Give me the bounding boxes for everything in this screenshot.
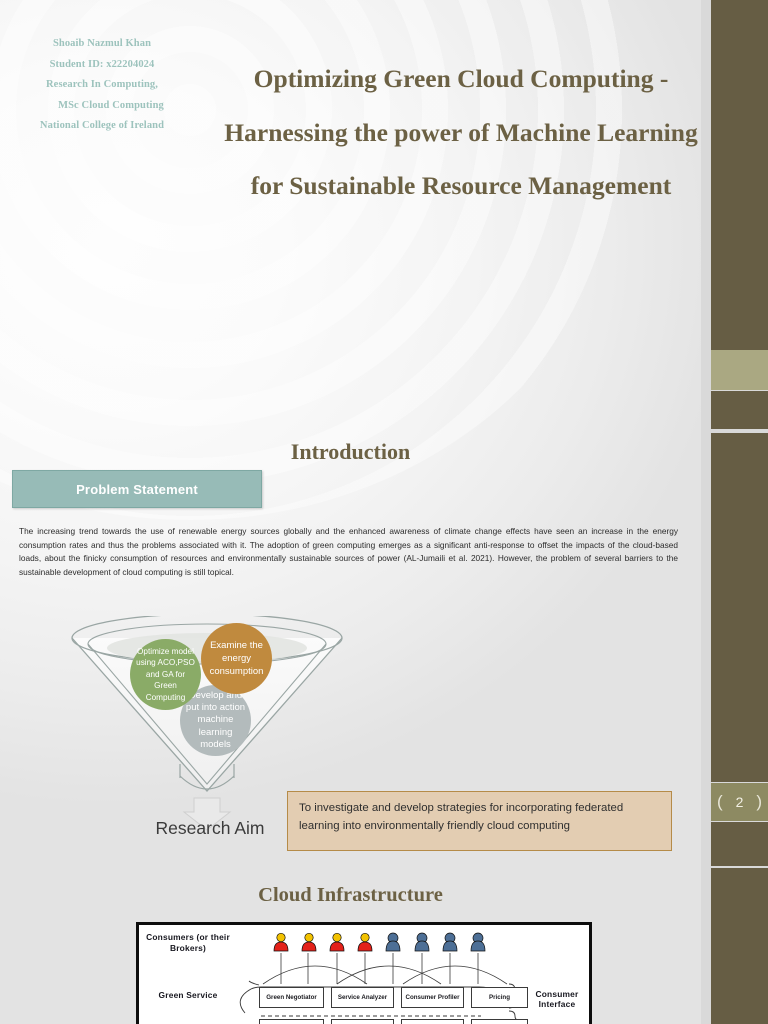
page-title: Optimizing Green Cloud Computing - Harne…: [222, 52, 700, 213]
slide-number-bracket-right: ): [756, 792, 762, 812]
slide-number-indicator: ( 2 ): [711, 783, 768, 821]
introduction-paragraph: The increasing trend towards the use of …: [19, 525, 678, 579]
cloud-diagram-box-row2-d: [471, 1019, 528, 1024]
author-block: Shoaib Nazmul Khan Student ID: x22204024…: [12, 34, 192, 137]
cloud-diagram-connectors: [141, 927, 592, 1024]
problem-statement-label: Problem Statement: [76, 482, 198, 497]
cloud-diagram-box-green-negotiator: Green Negotiator: [259, 987, 324, 1008]
problem-statement-banner: Problem Statement: [12, 470, 262, 508]
cloud-diagram-box-row2-b: [331, 1019, 394, 1024]
rail-strip-highlight[interactable]: [711, 350, 768, 390]
author-programme: Research In Computing,: [12, 75, 192, 96]
funnel-circle-orange-label: Examine the energy consumption: [205, 639, 268, 678]
funnel-circle-green: Optimize model using ACO,PSO and GA for …: [130, 639, 201, 710]
author-course: MSc Cloud Computing: [12, 96, 192, 117]
rail-strip-4[interactable]: [711, 433, 768, 782]
section-heading-cloud-infrastructure: Cloud Infrastructure: [0, 884, 701, 907]
cloud-diagram-box-service-analyzer: Service Analyzer: [331, 987, 394, 1008]
rail-strip-3[interactable]: [711, 391, 768, 429]
research-aim-callout-text: To investigate and develop strategies fo…: [299, 802, 623, 832]
rail-strip-6[interactable]: [711, 822, 768, 866]
research-aim-callout: To investigate and develop strategies fo…: [287, 791, 672, 851]
cloud-diagram-box-row2-c: [401, 1019, 464, 1024]
rail-strip-7[interactable]: [711, 868, 768, 1024]
slide-page: Shoaib Nazmul Khan Student ID: x22204024…: [0, 0, 768, 1024]
cloud-diagram-canvas: Consumers (or their Brokers) Green Servi…: [141, 927, 587, 1024]
rail-strip-1[interactable]: [711, 0, 768, 350]
slide-number-value: 2: [736, 794, 744, 810]
author-student-id: Student ID: x22204024: [12, 55, 192, 76]
cloud-diagram-box-row2-a: [259, 1019, 324, 1024]
author-institution: National College of Ireland: [12, 116, 192, 137]
funnel-circle-orange: Examine the energy consumption: [201, 623, 272, 694]
right-rail[interactable]: ( 2 ): [711, 0, 768, 1024]
author-name: Shoaib Nazmul Khan: [12, 34, 192, 55]
slide-number-bracket-left: (: [717, 792, 723, 812]
section-heading-introduction: Introduction: [0, 439, 701, 465]
cloud-diagram-box-pricing: Pricing: [471, 987, 528, 1008]
document-pane: Shoaib Nazmul Khan Student ID: x22204024…: [0, 0, 701, 1024]
research-aim-label: Research Aim: [140, 818, 280, 839]
cloud-diagram-box-consumer-profiler: Consumer Profiler: [401, 987, 464, 1008]
consumer-red-icons: [274, 933, 372, 951]
consumer-blue-icons: [386, 933, 485, 951]
cloud-infrastructure-diagram: Consumers (or their Brokers) Green Servi…: [136, 922, 592, 1024]
funnel-circle-green-label: Optimize model using ACO,PSO and GA for …: [134, 646, 197, 704]
